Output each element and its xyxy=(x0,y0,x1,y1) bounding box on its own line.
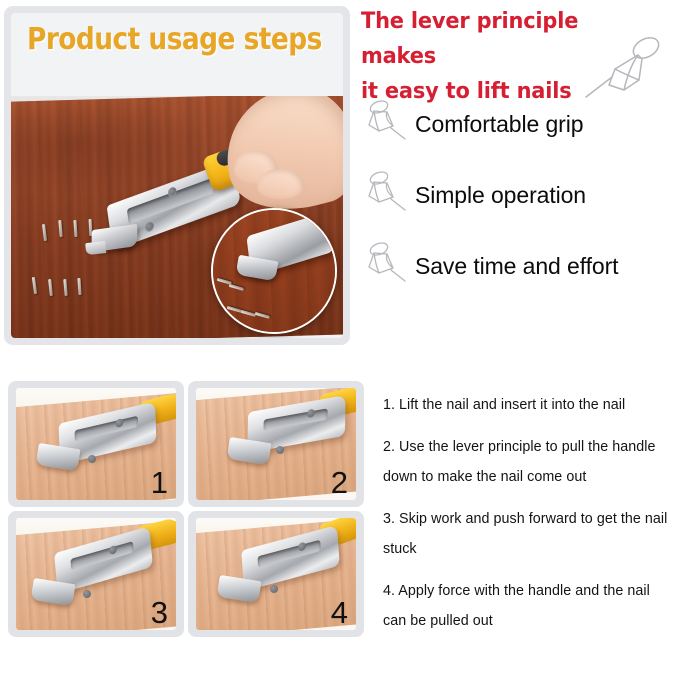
step-number: 1 xyxy=(151,467,168,498)
tool-slot xyxy=(127,178,216,225)
tool-rivet xyxy=(83,590,91,598)
step-thumbnail-grid: 1 2 3 xyxy=(8,381,364,637)
hero-photo xyxy=(11,96,343,338)
feature-label: Save time and effort xyxy=(415,253,618,280)
step-photo: 2 xyxy=(196,388,356,500)
tool-slot xyxy=(74,416,138,441)
tool-slot xyxy=(264,408,329,430)
magnifier-inset xyxy=(211,208,337,334)
tool-rivet xyxy=(145,221,155,233)
feature-label: Comfortable grip xyxy=(415,111,583,138)
feature-item-simple-operation: Simple operation xyxy=(361,168,679,239)
instruction-item: 2. Use the lever principle to pull the h… xyxy=(383,432,675,492)
pushpin-icon xyxy=(365,99,411,141)
step-thumbnail: 3 xyxy=(8,511,184,637)
feature-list: Comfortable grip Simple operation xyxy=(361,97,679,310)
tool-slot xyxy=(71,542,135,571)
tool-rivet xyxy=(270,585,278,593)
step-thumbnail: 4 xyxy=(188,511,364,637)
step-photo: 4 xyxy=(196,518,356,630)
step-thumbnail: 1 xyxy=(8,381,184,507)
pushpin-icon xyxy=(578,28,670,106)
instruction-list: 1. Lift the nail and insert it into the … xyxy=(383,390,675,636)
hero-panel-inner: Product usage steps xyxy=(11,13,343,338)
feature-item-comfortable-grip: Comfortable grip xyxy=(361,97,679,168)
hero-panel: Product usage steps xyxy=(4,6,350,345)
step-thumbnail: 2 xyxy=(188,381,364,507)
instruction-item: 4. Apply force with the handle and the n… xyxy=(383,576,675,636)
step-number: 2 xyxy=(331,467,348,498)
instruction-item: 1. Lift the nail and insert it into the … xyxy=(383,390,675,420)
pushpin-icon xyxy=(365,170,411,212)
step-number: 4 xyxy=(331,597,348,628)
pushpin-icon xyxy=(365,241,411,283)
tool-slot xyxy=(257,540,321,568)
step-photo: 3 xyxy=(16,518,176,630)
finger xyxy=(257,169,305,199)
step-photo: 1 xyxy=(16,388,176,500)
feature-label: Simple operation xyxy=(415,182,586,209)
instruction-item: 3. Skip work and push forward to get the… xyxy=(383,504,675,564)
tool-rivet xyxy=(115,418,123,428)
tool-claw-tip xyxy=(85,241,106,255)
step-number: 3 xyxy=(151,597,168,628)
page-title: Product usage steps xyxy=(27,25,322,55)
feature-item-save-time-and-effort: Save time and effort xyxy=(361,239,679,310)
